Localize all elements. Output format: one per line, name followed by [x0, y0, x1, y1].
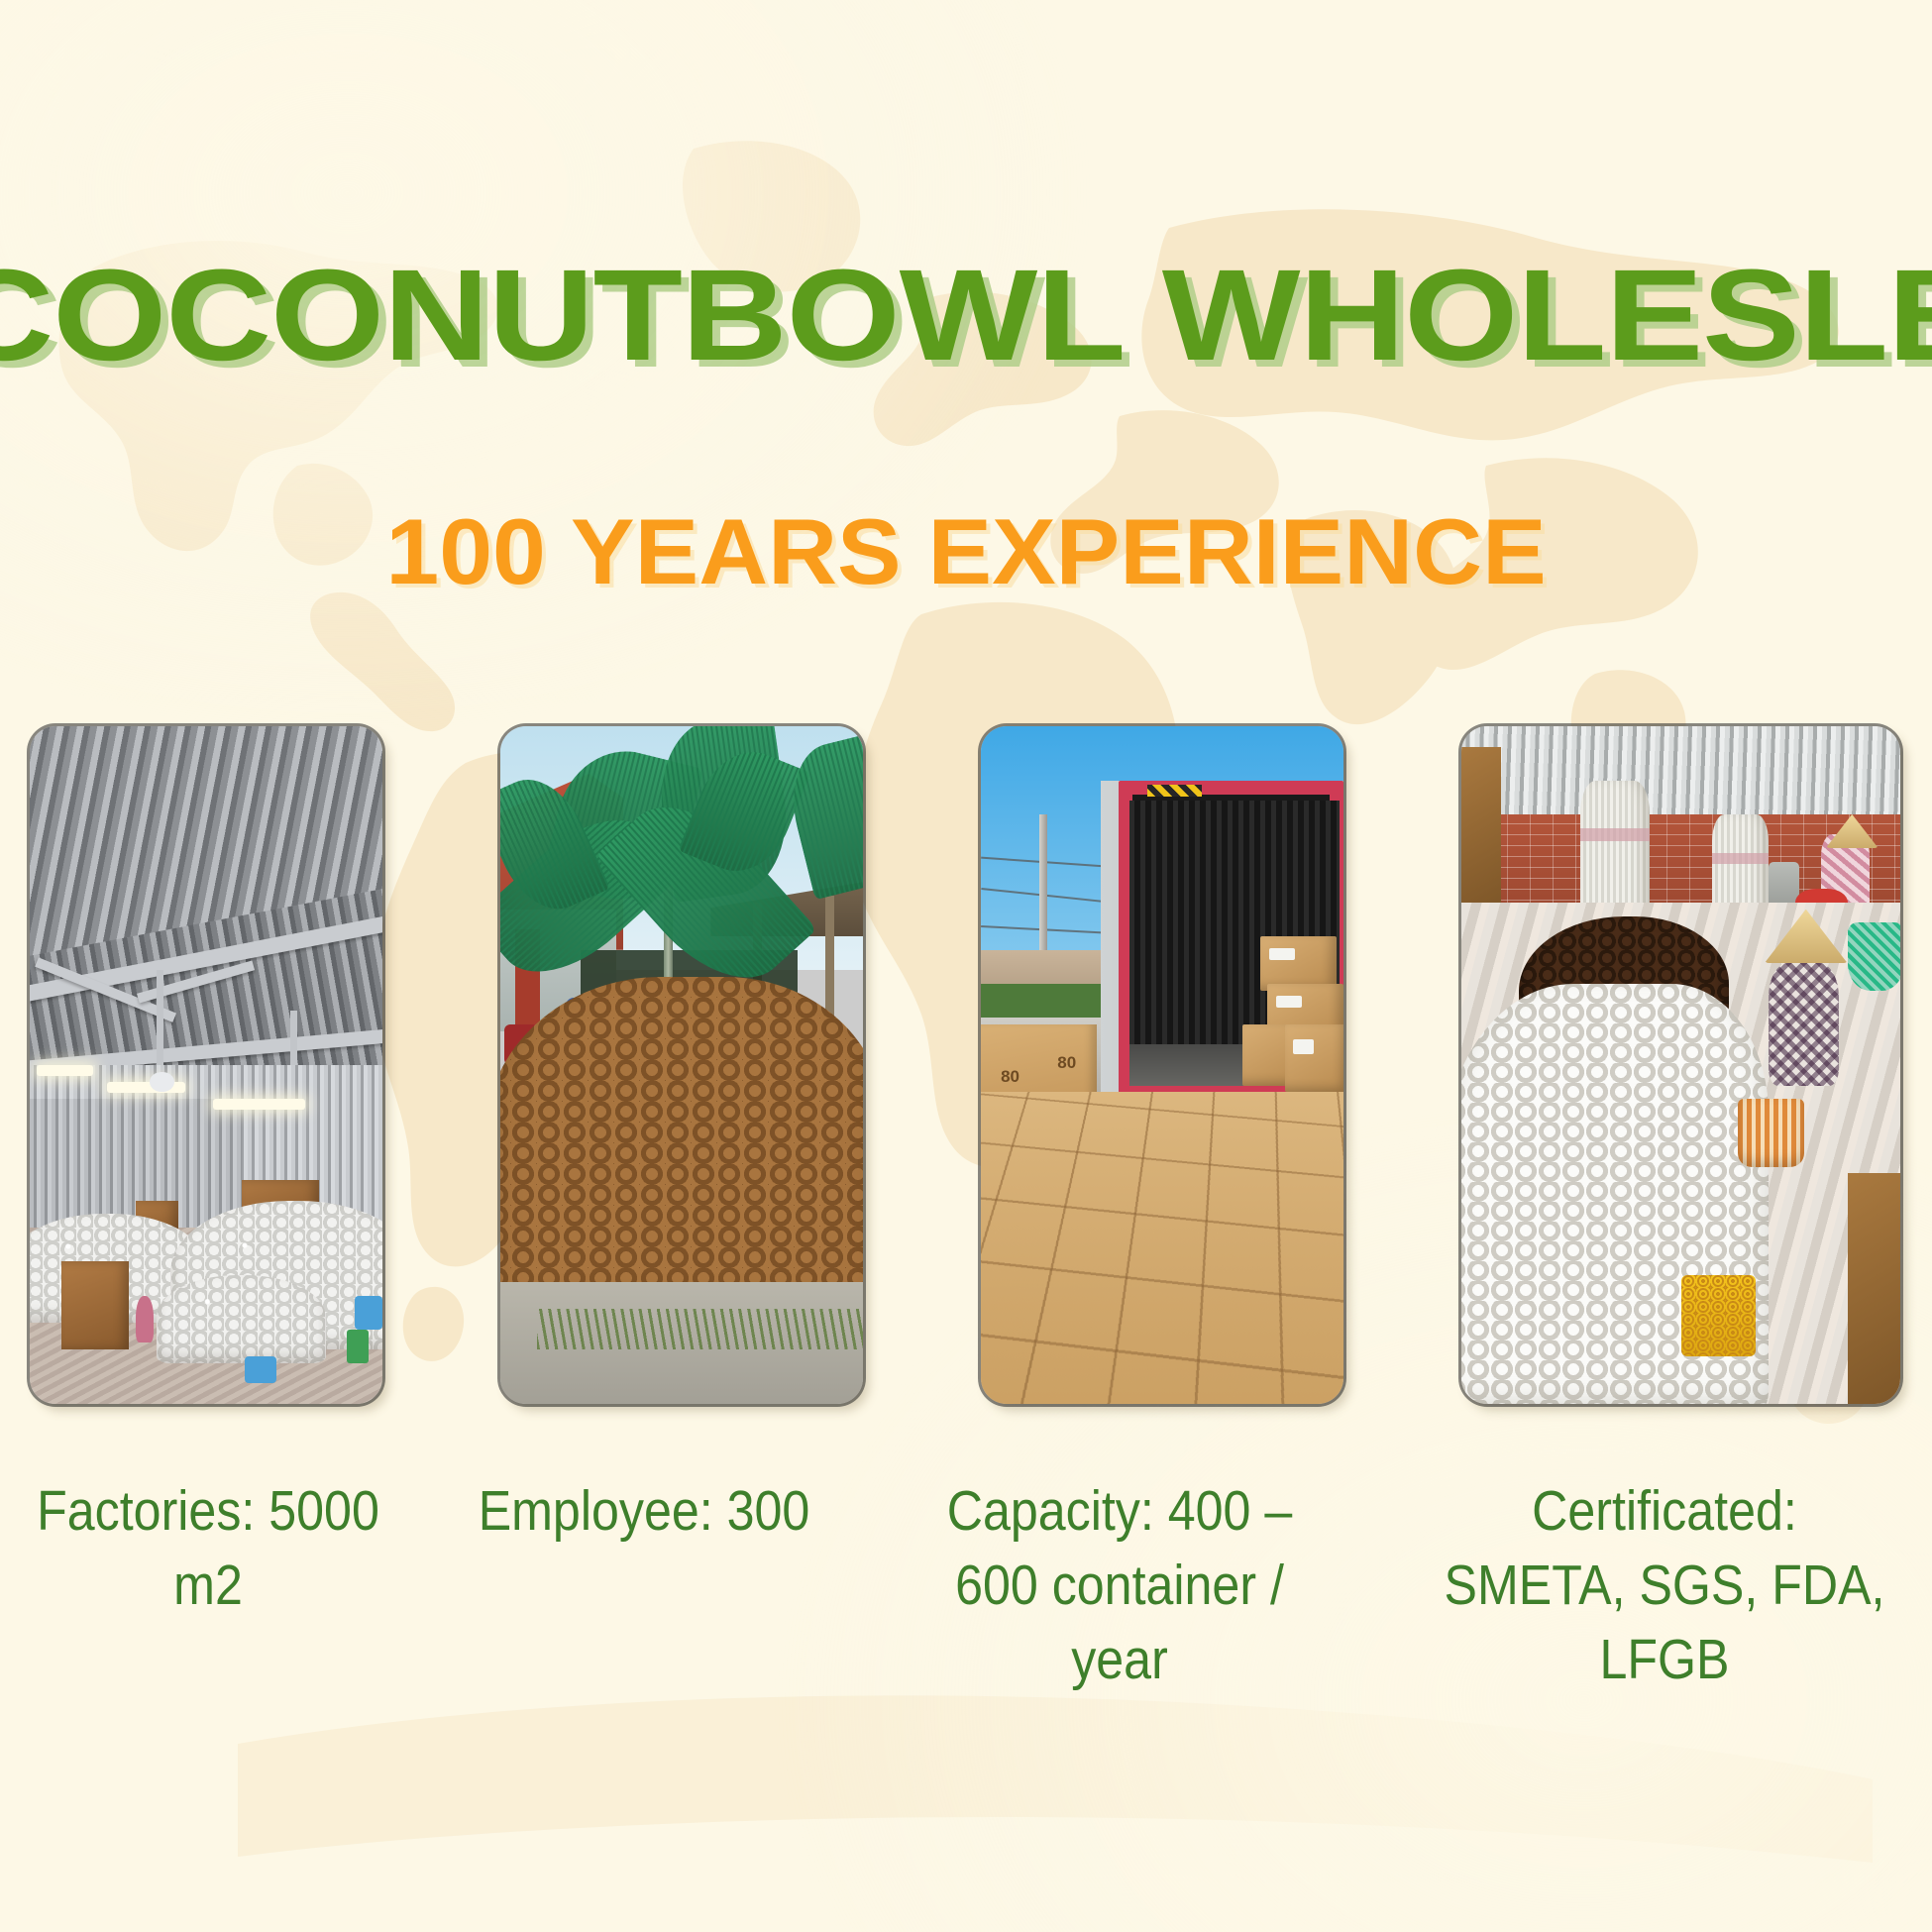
photo-shell-sorting-workers[interactable]: [1461, 726, 1900, 1404]
photo-coconut-shell-yard[interactable]: [500, 726, 863, 1404]
page-title: COCONUTBOWL WHOLESLE: [0, 250, 1932, 379]
caption-capacity: Capacity: 400 – 600 container / year: [919, 1474, 1321, 1698]
photo-container-loading[interactable]: 80 80: [981, 726, 1343, 1404]
photo-gallery: 80 80: [0, 726, 1932, 1404]
carton-label-80: 80: [1057, 1053, 1076, 1073]
caption-employee: Employee: 300: [461, 1474, 827, 1549]
carton-label-80: 80: [1001, 1067, 1020, 1087]
page-subtitle: 100 YEARS EXPERIENCE: [0, 505, 1932, 598]
caption-certificated: Certificated: SMETA, SGS, FDA, LFGB: [1438, 1474, 1891, 1698]
photo-factory-warehouse-interior[interactable]: [30, 726, 382, 1404]
caption-factories: Factories: 5000 m2: [25, 1474, 391, 1623]
promo-banner: COCONUTBOWL WHOLESLE 100 YEARS EXPERIENC…: [0, 0, 1932, 1932]
